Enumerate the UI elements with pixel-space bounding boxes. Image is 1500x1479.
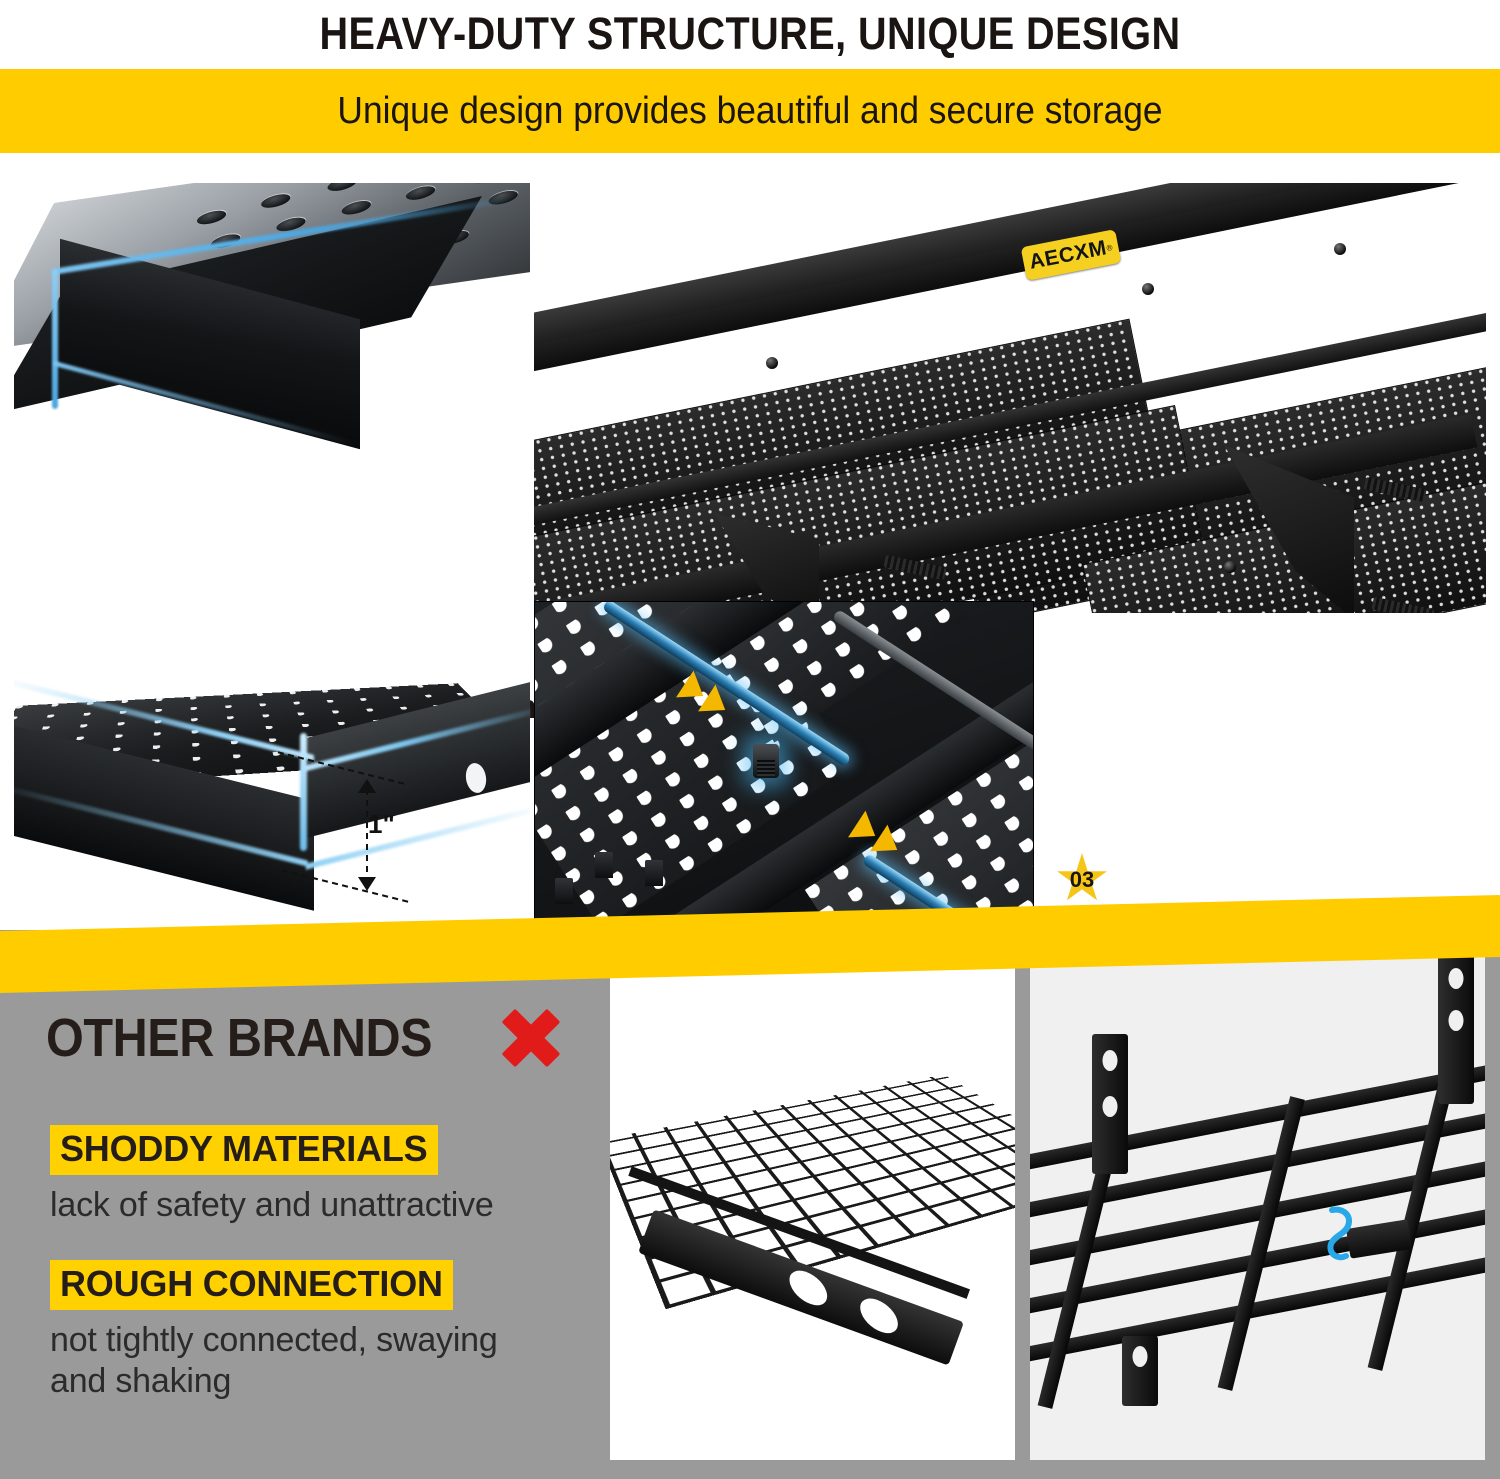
photo-main-rack: AECXM® bbox=[534, 183, 1486, 613]
comparison-item-description-line: and shaking bbox=[50, 1361, 498, 1402]
rail-hook-tab bbox=[555, 878, 573, 904]
bracket-hole bbox=[1103, 1096, 1118, 1117]
page-title: HEAVY-DUTY STRUCTURE, UNIQUE DESIGN bbox=[90, 0, 1410, 68]
mounting-hole bbox=[766, 357, 778, 369]
photo-competitor-flat-bar bbox=[1030, 948, 1485, 1460]
mesh-bar-hole bbox=[783, 1264, 833, 1312]
mounting-hole bbox=[1334, 243, 1346, 255]
photo-competitor-wire-mesh bbox=[610, 948, 1015, 1460]
comparison-title: OTHER BRANDS bbox=[46, 1007, 432, 1069]
comparison-item: SHODDY MATERIALS lack of safety and unat… bbox=[50, 1125, 494, 1226]
wall-mount-bracket bbox=[1122, 1336, 1158, 1406]
mesh-bar-hole bbox=[854, 1292, 904, 1340]
comparison-title-row: OTHER BRANDS bbox=[46, 1000, 569, 1076]
bracket-hole bbox=[1449, 968, 1464, 989]
rail-fixing-bolt bbox=[753, 744, 779, 778]
dimension-arrow-down-icon bbox=[358, 877, 376, 891]
photo-slide-rail bbox=[534, 601, 1034, 921]
wall-mount-bracket bbox=[1438, 954, 1474, 1104]
photo-c-channel-profile bbox=[14, 183, 530, 493]
channel-edge-glow-left bbox=[52, 269, 58, 409]
dimension-value: 1" bbox=[368, 809, 395, 840]
features-section: AECXM® 01 One-piece Folding And Forming … bbox=[0, 153, 1500, 928]
bracket-hole bbox=[1449, 1010, 1464, 1031]
trademark-symbol: ® bbox=[1106, 243, 1114, 253]
header-subtitle: Unique design provides beautiful and sec… bbox=[53, 69, 1448, 153]
red-x-icon bbox=[493, 1000, 569, 1076]
comparison-item-heading: ROUGH CONNECTION bbox=[50, 1260, 453, 1310]
photo-corner-thickness: 1" bbox=[14, 593, 530, 928]
comparison-item-description-line: not tightly connected, swaying bbox=[50, 1320, 498, 1361]
bracket-hole bbox=[1133, 1346, 1148, 1367]
comparison-item: ROUGH CONNECTION not tightly connected, … bbox=[50, 1260, 498, 1403]
dimension-arrow-up-icon bbox=[358, 779, 376, 793]
rail-hook-tab bbox=[595, 852, 613, 878]
corner-vertical-glow bbox=[300, 733, 307, 851]
star-badge-icon: 03 bbox=[1056, 853, 1108, 905]
rail-hook-tab bbox=[645, 860, 663, 886]
cyan-highlight-marker-icon bbox=[1318, 1204, 1358, 1266]
comparison-item-description: lack of safety and unattractive bbox=[50, 1185, 494, 1226]
comparison-item-description-block: not tightly connected, swaying and shaki… bbox=[50, 1320, 498, 1403]
bracket-hole bbox=[1103, 1050, 1118, 1071]
shelf-cross-bar bbox=[1218, 1096, 1305, 1391]
feature-number: 03 bbox=[1070, 867, 1094, 891]
mounting-hole bbox=[1224, 561, 1236, 573]
comparison-section: OTHER BRANDS SHODDY MATERIALS lack of sa… bbox=[0, 930, 1500, 1479]
wall-mount-bracket bbox=[1092, 1034, 1128, 1174]
mounting-hole bbox=[1142, 283, 1154, 295]
comparison-item-heading: SHODDY MATERIALS bbox=[50, 1125, 438, 1175]
